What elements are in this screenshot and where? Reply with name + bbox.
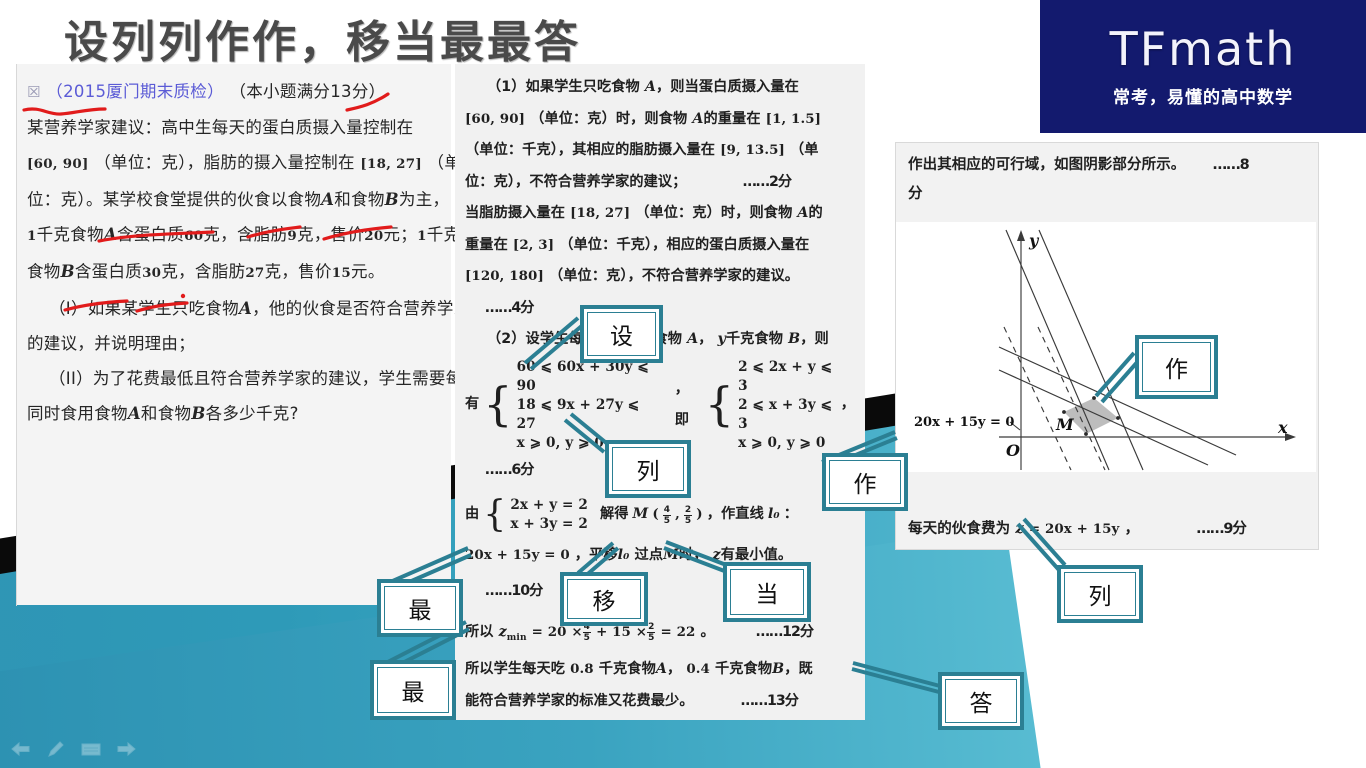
variable-z: z	[1015, 520, 1023, 537]
vertex-dot	[1092, 396, 1096, 400]
constraint-systems-row: 有 { 60 ⩽ 60x + 30y ⩽ 90 18 ⩽ 9x + 27y ⩽ …	[465, 358, 855, 453]
left-brace-2: {	[705, 384, 734, 425]
amount-b: 0.4	[686, 661, 710, 677]
a-price-value: 20	[364, 228, 383, 244]
constraint: 2 ⩽ x + 3y ⩽ 3	[738, 396, 837, 434]
pen-icon[interactable]	[43, 738, 69, 760]
zmin-fraction-2: 25	[647, 622, 655, 643]
annotation-char: 作	[854, 465, 877, 499]
b-protein-value: 30	[142, 265, 161, 281]
interval-protein: [60, 90]	[27, 156, 89, 172]
constraint: 60 ⩽ 60x + 30y ⩽ 90	[517, 358, 659, 396]
annotation-char: 作	[1165, 350, 1188, 384]
question-text: （I）如果某学生只吃食物	[49, 299, 239, 318]
solution-text: 的	[809, 205, 823, 221]
next-icon[interactable]	[113, 738, 139, 760]
point-m-label: M	[1055, 415, 1075, 434]
solution-text: ，平移	[575, 547, 618, 563]
objective-line-equation: 20x + 15y = 0	[465, 547, 570, 563]
system-label-you2: 由	[465, 499, 479, 531]
statement-text: 克，售价	[265, 262, 332, 281]
zmin-result: = 22	[660, 624, 695, 640]
y-axis-label: y	[1028, 231, 1040, 250]
system-2: 2 ⩽ 2x + y ⩽ 3 2 ⩽ x + 3y ⩽ 3 x ⩾ 0, y ⩾…	[738, 358, 837, 453]
food-a-symbol: A	[687, 331, 698, 347]
equation: 2x + y = 2	[510, 496, 588, 515]
left-brace-3: {	[483, 499, 506, 531]
solution-text: 每天的伙食费为	[908, 521, 1010, 537]
question-text: ，他的伙食是否符合营养学家	[252, 299, 470, 318]
annotation-char: 答	[970, 684, 993, 718]
logo-tagline: 常考，易懂的高中数学	[1113, 83, 1293, 108]
food-a-symbol: A	[797, 205, 808, 221]
part1-line-2: [60, 90] （单位：克）时，则食物 A的重量在 [1, 1.5]	[465, 104, 855, 136]
solve-label: 解得	[600, 499, 629, 531]
annotation-box-zuo-1[interactable]: 作	[1135, 335, 1218, 399]
slides-icon[interactable]	[78, 738, 104, 760]
statement-text: 元。	[351, 262, 385, 281]
m-x-fraction: 45	[663, 505, 671, 526]
statement-text: 含蛋白质	[117, 225, 184, 244]
b-fat-value: 27	[245, 265, 264, 281]
cost-function-line: 每天的伙食费为 z = 20x + 15y ， ……9分	[896, 503, 1318, 546]
statement-text: 含蛋白质	[75, 262, 142, 281]
question-text: （II）为了花费最低且符合营养学家的建议，学生需要每天	[49, 369, 479, 388]
system-trailing-comma: ，	[841, 389, 855, 421]
solution-text: （单位：克）时，则食物	[635, 205, 792, 221]
interval-value: [1, 1.5]	[766, 111, 821, 127]
statement-line-2: [60, 90] （单位：克），脂肪的摄入量控制在 [18, 27] （单	[27, 145, 443, 182]
statement-text: 元；	[383, 225, 417, 244]
part1-line-4: 位：克），不符合营养学家的建议； ……2分	[465, 167, 855, 199]
a-protein-value: 60	[184, 228, 203, 244]
solution-text: 作出其相应的可行域，如图阴影部分所示。	[908, 157, 1185, 173]
solution-text: 。	[700, 624, 714, 640]
food-a-symbol: A	[692, 111, 703, 127]
m-y-fraction: 25	[684, 505, 692, 526]
solution-text: ：	[784, 499, 798, 531]
statement-line-1: 某营养学家建议：高中生每天的蛋白质摄入量控制在	[27, 110, 443, 145]
solution-text: ，	[698, 331, 712, 347]
statement-line-4: 1千克食物A含蛋白质60克，含脂肪9克，售价20元；1千克食物	[27, 217, 443, 254]
solution-text: 时，	[679, 547, 708, 563]
vertex-dot	[1116, 416, 1120, 420]
page-title: 设列列作作，移当最最答	[64, 6, 581, 70]
annotation-char: 最	[409, 591, 432, 625]
food-a-symbol: A	[656, 661, 667, 677]
part1-line-1: （1）如果学生只吃食物 A，则当蛋白质摄入量在	[465, 72, 855, 104]
solution-text: 能符合营养学家的标准又花费最少。	[465, 693, 694, 709]
question-text: 各多少千克?	[206, 404, 299, 423]
score-marker: ……2分	[743, 174, 791, 190]
statement-text: 克，售价	[297, 225, 364, 244]
presentation-navbar[interactable]	[8, 738, 139, 760]
solution-text: 位：克），不符合营养学家的建议；	[465, 174, 687, 190]
annotation-box-she[interactable]: 设	[580, 305, 663, 363]
solution-text: 的重量在	[703, 111, 760, 127]
solution-text: ，	[667, 661, 681, 677]
solution-text: 有最小值。	[721, 547, 792, 563]
annotation-box-da[interactable]: 答	[938, 672, 1024, 730]
annotation-box-zuo-2[interactable]: 作	[822, 453, 908, 511]
system-1: 60 ⩽ 60x + 30y ⩽ 90 18 ⩽ 9x + 27y ⩽ 27 x…	[517, 358, 659, 453]
solve-system-row: 由 { 2x + y = 2 x + 3y = 2 解得 M(45,25) ，作…	[465, 496, 855, 534]
solution-text: ，则	[800, 331, 829, 347]
annotation-box-zui-2[interactable]: 最	[370, 660, 456, 720]
question-2-line-2: 同时食用食物A和食物B各多少千克?	[27, 396, 443, 431]
annotation-box-zui-1[interactable]: 最	[377, 579, 463, 637]
system-3: 2x + y = 2 x + 3y = 2	[510, 496, 588, 534]
solution-text: （单位：千克），其相应的脂肪摄入量在	[465, 142, 715, 158]
amount-a: 0.8	[570, 661, 594, 677]
checkbox-icon: ☒	[27, 83, 41, 101]
question-1-line-2: 的建议，并说明理由；	[27, 326, 443, 361]
solution-text: 所以学生每天吃	[465, 661, 565, 677]
part1-line-3: （单位：千克），其相应的脂肪摄入量在 [9, 13.5] （单	[465, 135, 855, 167]
question-text: 同时食用食物	[27, 404, 128, 423]
food-b-symbol: B	[385, 190, 399, 209]
vertex-dot	[1084, 432, 1088, 436]
solution-text: （1）如果学生只吃食物	[487, 79, 640, 95]
score-marker-cont: 分	[908, 186, 923, 202]
food-b-symbol: B	[191, 404, 205, 423]
constraint: 18 ⩽ 9x + 27y ⩽ 27	[517, 396, 659, 434]
annotation-box-yi[interactable]: 移	[560, 572, 648, 626]
zmin-subscript: min	[507, 633, 527, 643]
solution-text: 过点	[635, 547, 664, 563]
source-label: （2015厦门期末质检）	[46, 82, 224, 101]
interval-value: [9, 13.5]	[720, 142, 785, 158]
interval-value: [2, 3]	[513, 237, 554, 253]
solution-text: 当脂肪摄入量在	[465, 205, 565, 221]
statement-text: 克，含脂肪	[203, 225, 287, 244]
annotation-box-dang[interactable]: 当	[723, 562, 811, 622]
solution-text: （单位：克），不符合营养学家的建议。	[549, 268, 799, 284]
logo-wordmark: TFmath	[1110, 26, 1297, 72]
part1-line-7: [120, 180] （单位：克），不符合营养学家的建议。	[465, 261, 855, 293]
solution-text: 千克食物	[599, 661, 656, 677]
right-line-2: 分	[908, 180, 1308, 209]
slide-canvas: 设列列作作，移当最最答 TFmath 常考，易懂的高中数学 ☒ （2015厦门期…	[0, 0, 1366, 768]
score-marker: ……13分	[741, 693, 798, 709]
part1-line-5: 当脂肪摄入量在 [18, 27] （单位：克）时，则食物 A的	[465, 198, 855, 230]
annotation-char: 当	[756, 575, 779, 609]
statement-text: 克，含脂肪	[161, 262, 245, 281]
constraint: 2 ⩽ 2x + y ⩽ 3	[738, 358, 837, 396]
solution-text: 千克食物	[715, 661, 772, 677]
a-fat-value: 9	[287, 228, 297, 244]
zmin-expression: = 20 ×	[532, 624, 583, 640]
annotation-box-lie-2[interactable]: 列	[1057, 565, 1143, 623]
variable-y: y	[718, 331, 726, 347]
score-marker: ……12分	[756, 624, 813, 640]
score-marker: ……4分	[485, 300, 533, 316]
equation: x + 3y = 2	[510, 515, 588, 534]
question-text: 和食物	[141, 404, 191, 423]
solution-text: ，既	[784, 661, 813, 677]
score-marker: ……9分	[1196, 521, 1246, 537]
question-text: 的建议，并说明理由；	[27, 334, 195, 353]
problem-statement-panel: ☒ （2015厦门期末质检） （本小题满分13分） 某营养学家建议：高中生每天的…	[17, 64, 451, 605]
interval-value: [60, 90]	[465, 111, 525, 127]
zmin-expression: + 15 ×	[596, 624, 647, 640]
question-2-line-1: （II）为了花费最低且符合营养学家的建议，学生需要每天	[27, 361, 443, 396]
part1-line-6: 重量在 [2, 3] （单位：千克），相应的蛋白质摄入量在	[465, 230, 855, 262]
left-brace-1: {	[483, 384, 512, 425]
variable-z: z	[499, 624, 507, 640]
zmin-line: 所以 zmin = 20 ×45 + 15 ×25 = 22 。 ……12分	[465, 617, 855, 654]
annotation-char: 设	[610, 317, 633, 351]
statement-text: 为主，	[399, 190, 449, 209]
point-m-symbol: M	[663, 547, 679, 563]
annotation-char: 最	[402, 673, 425, 707]
score-marker: ……8	[1213, 157, 1249, 173]
annotation-char: 移	[593, 582, 616, 616]
food-b-symbol: B	[61, 262, 75, 281]
score-note: （本小题满分13分）	[229, 82, 385, 101]
annotation-char: 列	[1089, 577, 1112, 611]
score-marker: ……6分	[485, 462, 533, 478]
food-a-symbol: A	[321, 190, 334, 209]
solution-text: 所以	[465, 624, 494, 640]
solution-text: ，则当蛋白质摄入量在	[656, 79, 799, 95]
solution-text: （单	[790, 142, 819, 158]
annotation-char: 列	[637, 452, 660, 486]
statement-text: 位：克）。某学校食堂提供的伙食以食物	[27, 190, 321, 209]
statement-text: （单位：克），脂肪的摄入量控制在	[94, 153, 355, 172]
origin-label: O	[1006, 441, 1020, 460]
statement-text: 和食物	[334, 190, 384, 209]
variable-z: z	[713, 547, 721, 563]
interval-value: [18, 27]	[570, 205, 630, 221]
food-a-symbol: A	[239, 299, 252, 318]
annotation-box-lie-1[interactable]: 列	[605, 440, 691, 498]
score-marker: ……10分	[485, 583, 542, 599]
tfmath-logo: TFmath 常考，易懂的高中数学	[1040, 0, 1366, 133]
food-b-symbol: B	[772, 661, 784, 677]
statement-text: 某营养学家建议：高中生每天的蛋白质摄入量控制在	[27, 118, 413, 137]
statement-text: 食物	[27, 262, 61, 281]
interval-fat: [18, 27]	[360, 156, 422, 172]
feasible-region-graph: y x O M 20x + 15y = 0	[896, 222, 1316, 472]
solution-text: （单位：克）时，则食物	[530, 111, 687, 127]
previous-icon[interactable]	[8, 738, 34, 760]
b-price-value: 15	[332, 265, 351, 281]
conclusion-line-2: 能符合营养学家的标准又花费最少。 ……13分	[465, 686, 855, 718]
line-l0-symbol: l₀	[618, 547, 630, 563]
solution-text: 千克食物	[726, 331, 783, 347]
interval-value: [120, 180]	[465, 268, 544, 284]
point-m-symbol: M	[633, 499, 649, 531]
line-l0-symbol: l₀	[768, 499, 780, 531]
conclusion-line-1: 所以学生每天吃 0.8 千克食物A， 0.4 千克食物B，既	[465, 654, 855, 686]
system-label-ji: ，即	[675, 374, 701, 437]
food-a-symbol: A	[645, 79, 656, 95]
system-label-you: 有	[465, 389, 479, 421]
problem-source-line: ☒ （2015厦门期末质检） （本小题满分13分）	[27, 74, 443, 110]
x-axis-label: x	[1277, 418, 1288, 437]
question-1-line-1: （I）如果某学生只吃食物A，他的伙食是否符合营养学家	[27, 291, 443, 326]
solution-text: （单位：千克），相应的蛋白质摄入量在	[559, 237, 809, 253]
food-a-symbol: A	[128, 404, 141, 423]
statement-text: 千克食物	[37, 225, 104, 244]
right-line-1: 作出其相应的可行域，如图阴影部分所示。 ……8	[908, 151, 1308, 180]
cost-expression: = 20x + 15y	[1029, 521, 1120, 537]
constraint: x ⩾ 0, y ⩾ 0	[738, 434, 837, 453]
objective-line-label: 20x + 15y = 0	[914, 415, 1014, 430]
statement-line-5: 食物B含蛋白质30克，含脂肪27克，售价15元。	[27, 254, 443, 291]
solution-text: 重量在	[465, 237, 508, 253]
food-b-symbol: B	[788, 331, 800, 347]
solution-text: ，作直线	[707, 499, 764, 531]
vertex-dot	[1062, 410, 1066, 414]
food-a-symbol: A	[104, 225, 117, 244]
statement-line-3: 位：克）。某学校食堂提供的伙食以食物A和食物B为主，	[27, 182, 443, 217]
solution-text: ，	[1125, 521, 1140, 537]
